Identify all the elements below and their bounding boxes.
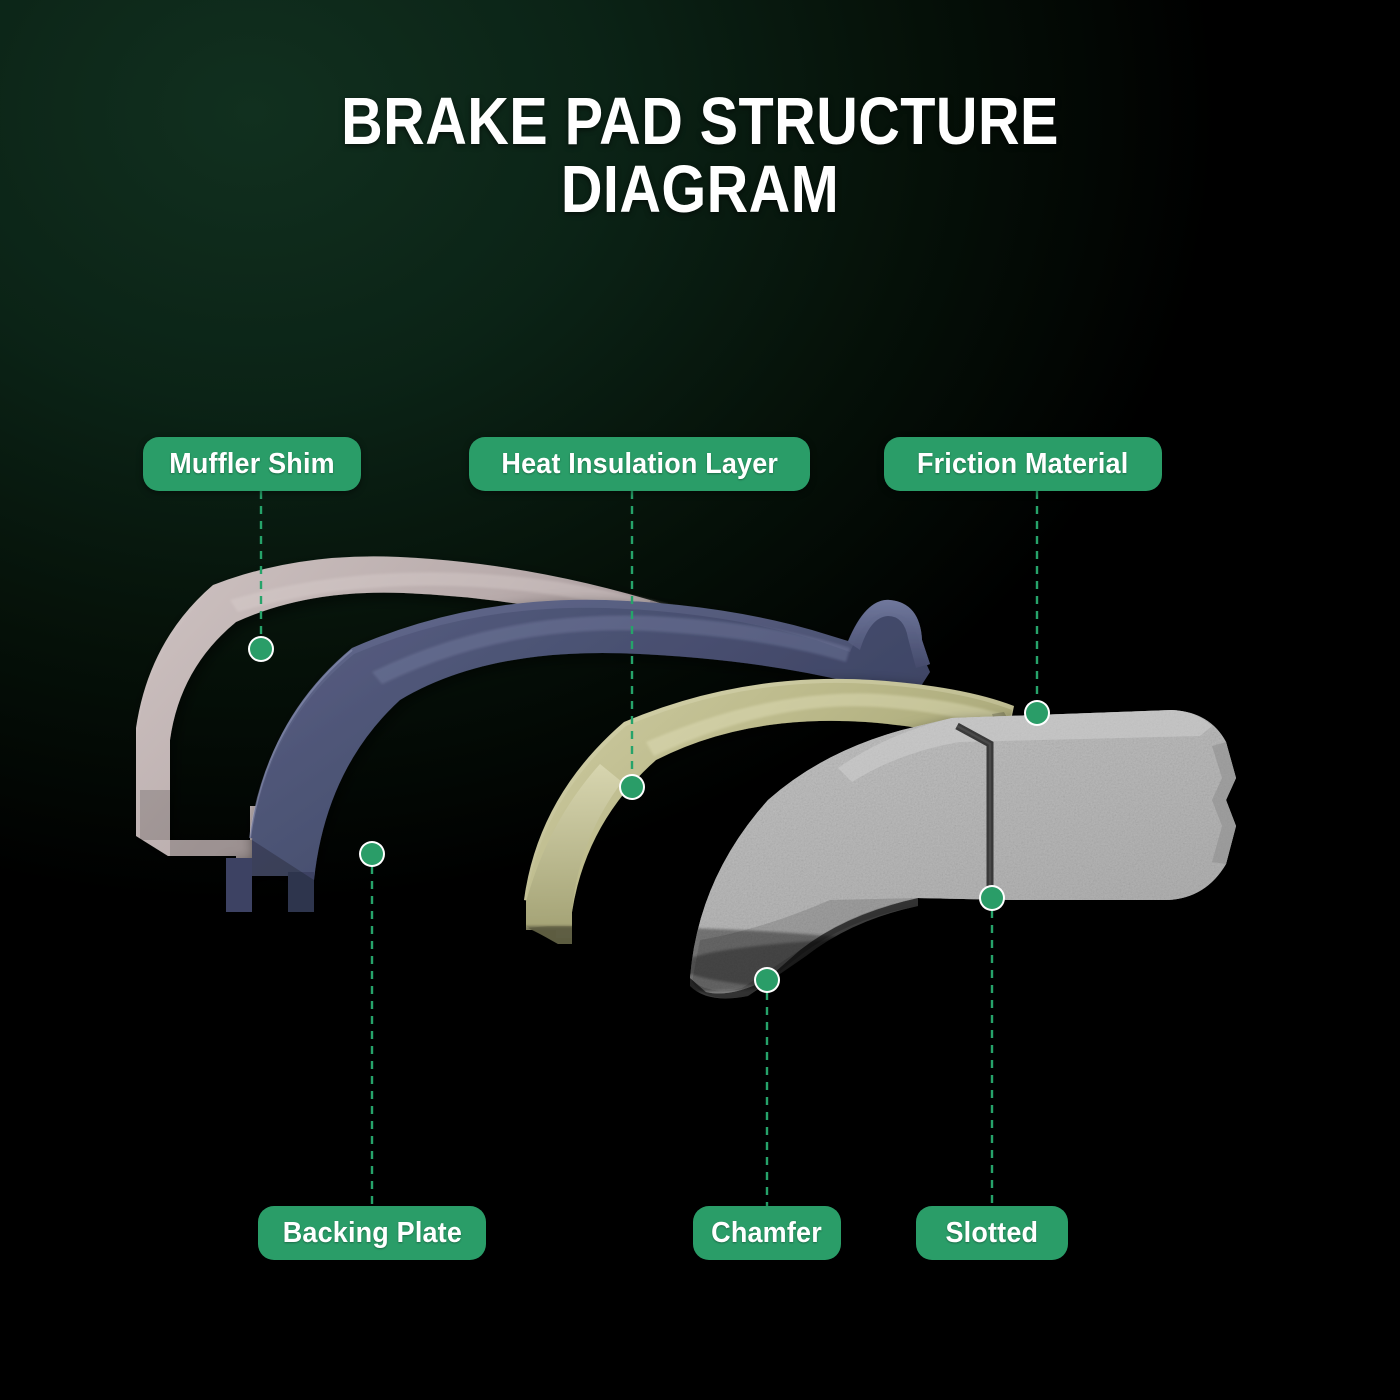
callout-muffler-shim[interactable]: Muffler Shim bbox=[143, 437, 361, 491]
callout-label: Slotted bbox=[946, 1217, 1039, 1250]
callout-label: Muffler Shim bbox=[169, 448, 335, 481]
callout-heat-insulation-layer[interactable]: Heat Insulation Layer bbox=[469, 437, 810, 491]
callout-chamfer[interactable]: Chamfer bbox=[693, 1206, 841, 1260]
callout-slotted[interactable]: Slotted bbox=[916, 1206, 1068, 1260]
callout-friction-material[interactable]: Friction Material bbox=[884, 437, 1162, 491]
brake-pad-artwork bbox=[0, 0, 1400, 1400]
callout-label: Heat Insulation Layer bbox=[501, 448, 778, 481]
diagram-canvas: BRAKE PAD STRUCTURE DIAGRAM bbox=[0, 0, 1400, 1400]
callout-backing-plate[interactable]: Backing Plate bbox=[258, 1206, 486, 1260]
callout-label: Chamfer bbox=[712, 1217, 823, 1250]
callout-label: Backing Plate bbox=[282, 1217, 461, 1250]
callout-label: Friction Material bbox=[917, 448, 1128, 481]
